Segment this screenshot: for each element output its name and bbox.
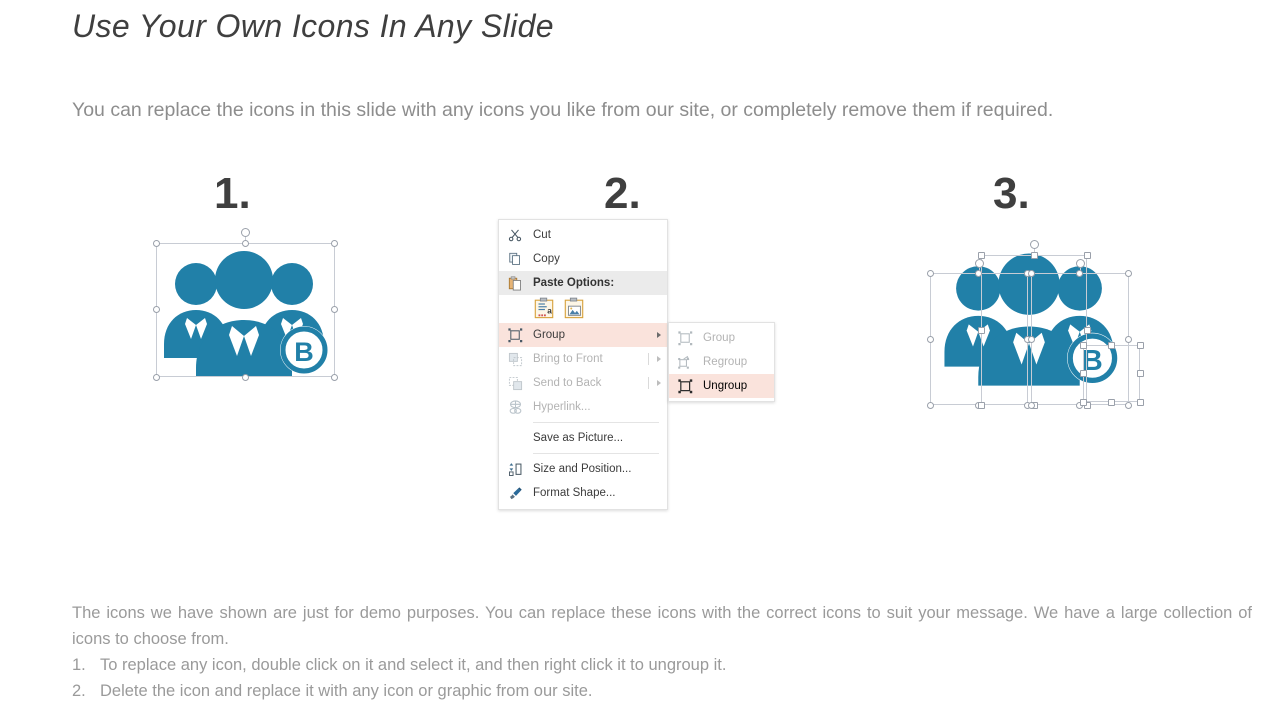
handle-n[interactable]	[1076, 270, 1083, 277]
context-menu[interactable]: Cut Copy Paste Options:	[498, 219, 668, 510]
handle-sw[interactable]	[1080, 399, 1087, 406]
handle-nw[interactable]	[153, 240, 160, 247]
menu-item-label: Hyperlink...	[533, 401, 661, 413]
handle-s[interactable]	[242, 374, 249, 381]
handle-e[interactable]	[1125, 336, 1132, 343]
handle-nw[interactable]	[927, 270, 934, 277]
handle-nw[interactable]	[1080, 342, 1087, 349]
copy-icon	[505, 250, 525, 268]
menu-item-hyperlink[interactable]: Hyperlink...	[499, 395, 667, 419]
handle-se[interactable]	[1125, 402, 1132, 409]
handle-se[interactable]	[1137, 399, 1144, 406]
footer-paragraph: The icons we have shown are just for dem…	[72, 600, 1252, 652]
handle-s[interactable]	[1108, 399, 1115, 406]
chevron-right-icon	[657, 380, 661, 386]
handle-sw[interactable]	[1028, 402, 1035, 409]
footer-list-item: 2. Delete the icon and replace it with a…	[72, 678, 1252, 704]
menu-item-label: Paste Options:	[533, 277, 661, 289]
submenu-item-group[interactable]: Group	[669, 326, 774, 350]
handle-n[interactable]	[1108, 342, 1115, 349]
menu-item-divider	[648, 353, 649, 365]
handle-nw[interactable]	[1028, 270, 1035, 277]
menu-item-save-as-picture[interactable]: Save as Picture...	[499, 426, 667, 450]
footer-list: 1. To replace any icon, double click on …	[72, 652, 1252, 704]
menu-item-label: Format Shape...	[533, 487, 661, 499]
group-icon	[675, 329, 695, 347]
regroup-icon	[675, 353, 695, 371]
handle-w[interactable]	[927, 336, 934, 343]
handle-w[interactable]	[153, 306, 160, 313]
group-submenu[interactable]: Group Regroup	[668, 322, 775, 402]
scissors-icon	[505, 226, 525, 244]
rotation-handle[interactable]	[1030, 240, 1039, 249]
step-number-2: 2.	[604, 172, 641, 216]
chevron-right-icon	[657, 332, 661, 338]
handle-ne[interactable]	[1084, 252, 1091, 259]
menu-item-label: Send to Back	[533, 377, 653, 389]
rotation-handle[interactable]	[1076, 259, 1085, 268]
menu-item-bring-to-front[interactable]: Bring to Front	[499, 347, 667, 371]
menu-item-send-to-back[interactable]: Send to Back	[499, 371, 667, 395]
rotation-handle[interactable]	[975, 259, 984, 268]
size-position-icon	[505, 460, 525, 478]
menu-item-paste-options[interactable]: Paste Options:	[499, 271, 667, 295]
rotation-handle[interactable]	[241, 228, 250, 237]
handle-e[interactable]	[1137, 370, 1144, 377]
menu-item-label: Cut	[533, 229, 661, 241]
submenu-item-label: Group	[703, 332, 768, 344]
menu-separator	[533, 422, 659, 423]
svg-text:a: a	[547, 306, 552, 315]
handle-n[interactable]	[1031, 252, 1038, 259]
menu-item-label: Size and Position...	[533, 463, 661, 475]
no-icon	[505, 429, 525, 447]
chevron-right-icon	[657, 356, 661, 362]
menu-item-label: Save as Picture...	[533, 432, 661, 444]
step-number-1: 1.	[214, 172, 251, 216]
submenu-item-label: Ungroup	[703, 380, 768, 392]
handle-e[interactable]	[1084, 327, 1091, 334]
footer-list-number: 1.	[72, 652, 100, 678]
menu-item-label: Group	[533, 329, 653, 341]
page-title: Use Your Own Icons In Any Slide	[72, 8, 554, 45]
handle-ne[interactable]	[1137, 342, 1144, 349]
selection-frame-step1[interactable]	[156, 243, 335, 377]
footer-list-text: To replace any icon, double click on it …	[100, 652, 1252, 678]
handle-sw[interactable]	[153, 374, 160, 381]
bring-to-front-icon	[505, 350, 525, 368]
handle-sw[interactable]	[927, 402, 934, 409]
handle-e[interactable]	[331, 306, 338, 313]
handle-n[interactable]	[975, 270, 982, 277]
paste-keep-source-formatting-icon[interactable]: a	[533, 297, 555, 322]
step-number-3: 3.	[993, 172, 1030, 216]
submenu-item-ungroup[interactable]: Ungroup	[669, 374, 774, 398]
submenu-item-regroup[interactable]: Regroup	[669, 350, 774, 374]
handle-ne[interactable]	[331, 240, 338, 247]
footer-list-number: 2.	[72, 678, 100, 704]
hyperlink-icon	[505, 398, 525, 416]
menu-item-group[interactable]: Group	[499, 323, 667, 347]
menu-item-label: Copy	[533, 253, 661, 265]
group-icon	[505, 326, 525, 344]
paste-picture-icon[interactable]	[563, 297, 585, 322]
slide-canvas: Use Your Own Icons In Any Slide You can …	[0, 0, 1280, 720]
menu-item-label: Bring to Front	[533, 353, 653, 365]
handle-sw[interactable]	[978, 402, 985, 409]
handle-ne[interactable]	[1125, 270, 1132, 277]
format-shape-icon	[505, 484, 525, 502]
handle-nw[interactable]	[978, 252, 985, 259]
menu-item-format-shape[interactable]: Format Shape...	[499, 481, 667, 505]
submenu-item-label: Regroup	[703, 356, 768, 368]
handle-w[interactable]	[1080, 370, 1087, 377]
subshape-frame-badge[interactable]	[1083, 345, 1140, 402]
menu-item-divider	[648, 377, 649, 389]
footer-list-item: 1. To replace any icon, double click on …	[72, 652, 1252, 678]
handle-w[interactable]	[1028, 336, 1035, 343]
menu-item-size-and-position[interactable]: Size and Position...	[499, 457, 667, 481]
menu-item-copy[interactable]: Copy	[499, 247, 667, 271]
paste-options-row[interactable]: a	[499, 295, 667, 323]
handle-se[interactable]	[331, 374, 338, 381]
clipboard-icon	[505, 274, 525, 292]
handle-w[interactable]	[978, 327, 985, 334]
menu-item-cut[interactable]: Cut	[499, 223, 667, 247]
send-to-back-icon	[505, 374, 525, 392]
handle-n[interactable]	[242, 240, 249, 247]
menu-separator	[533, 453, 659, 454]
footer-list-text: Delete the icon and replace it with any …	[100, 678, 1252, 704]
ungroup-icon	[675, 377, 695, 395]
subtitle-text: You can replace the icons in this slide …	[72, 96, 1184, 125]
